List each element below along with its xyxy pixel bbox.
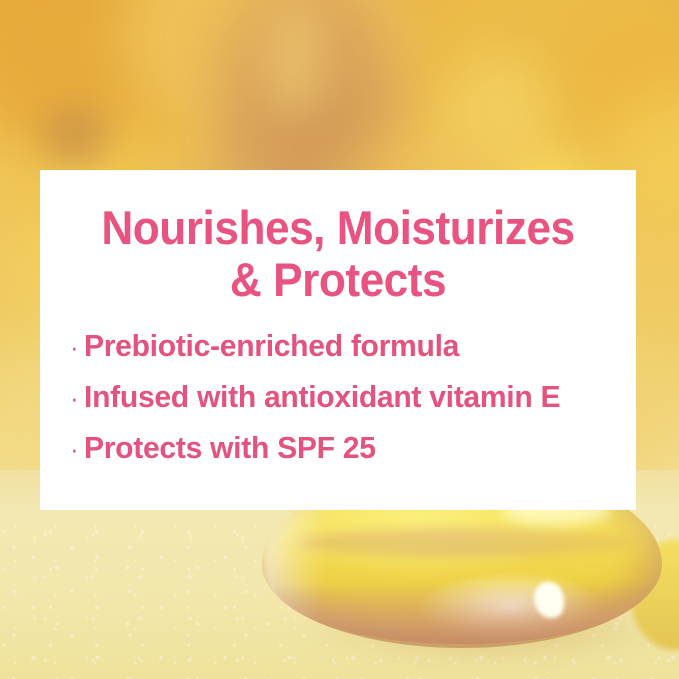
bullet-dot-icon: · — [70, 385, 84, 411]
bullet-dot-icon: · — [70, 436, 84, 462]
capsule-reflection-band — [294, 528, 630, 557]
bokeh-blob — [265, 0, 325, 120]
bokeh-blob — [40, 105, 110, 165]
bullet-dot-icon: · — [70, 334, 84, 360]
list-item-label: Prebiotic-enriched formula — [84, 328, 459, 364]
product-feature-graphic: Nourishes, Moisturizes & Protects · Preb… — [0, 0, 679, 679]
benefits-list: · Prebiotic-enriched formula · Infused w… — [70, 328, 622, 481]
list-item-label: Infused with antioxidant vitamin E — [84, 379, 560, 415]
list-item: · Infused with antioxidant vitamin E — [70, 379, 622, 430]
list-item: · Prebiotic-enriched formula — [70, 328, 622, 379]
list-item-label: Protects with SPF 25 — [84, 430, 376, 466]
card-heading: Nourishes, Moisturizes & Protects — [58, 202, 618, 306]
list-item: · Protects with SPF 25 — [70, 430, 622, 481]
text-card: Nourishes, Moisturizes & Protects · Preb… — [40, 170, 636, 510]
